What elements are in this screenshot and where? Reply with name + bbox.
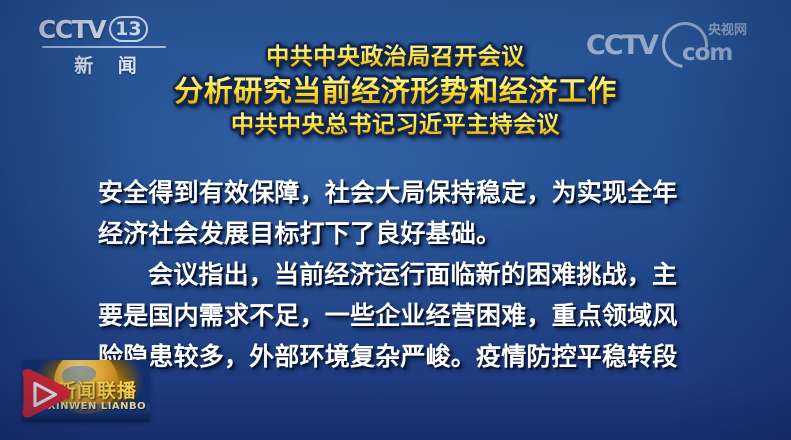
cctv13-channel-number: 13 (115, 20, 141, 39)
cctv13-wordmark: CCTV (38, 17, 105, 42)
headline-line-1: 中共中央政治局召开会议 (0, 44, 791, 71)
body-line-3: 会议指出，当前经济运行面临新的困难挑战，主 (98, 254, 698, 295)
body-paragraph: 安全得到有效保障，社会大局保持稳定，为实现全年 经济社会发展目标打下了良好基础。… (98, 172, 698, 377)
watermark-chinese-label: 央视网 (708, 24, 747, 37)
broadcast-frame: CCTV 13 新 闻 CCTV 央视网 com 中共中央政治局召开会议 分析研… (0, 0, 791, 440)
play-icon[interactable] (16, 368, 72, 422)
body-line-4: 要是国内需求不足，一些企业经营困难，重点领域风 (98, 295, 698, 336)
headline-line-2: 分析研究当前经济形势和经济工作 (0, 74, 791, 108)
cctv13-logo-row: CCTV 13 (38, 14, 173, 44)
headline-line-3: 中共中央总书记习近平主持会议 (0, 112, 791, 139)
body-line-5: 险隐患较多，外部环境复杂严峻。疫情防控平稳转段 (98, 336, 698, 377)
body-line-1: 安全得到有效保障，社会大局保持稳定，为实现全年 (98, 172, 698, 213)
body-line-2: 经济社会发展目标打下了良好基础。 (98, 213, 698, 254)
cctv13-channel-number-box: 13 (109, 16, 147, 42)
play-button[interactable] (16, 368, 72, 422)
headline-block: 中共中央政治局召开会议 分析研究当前经济形势和经济工作 中共中央总书记习近平主持… (0, 44, 791, 139)
